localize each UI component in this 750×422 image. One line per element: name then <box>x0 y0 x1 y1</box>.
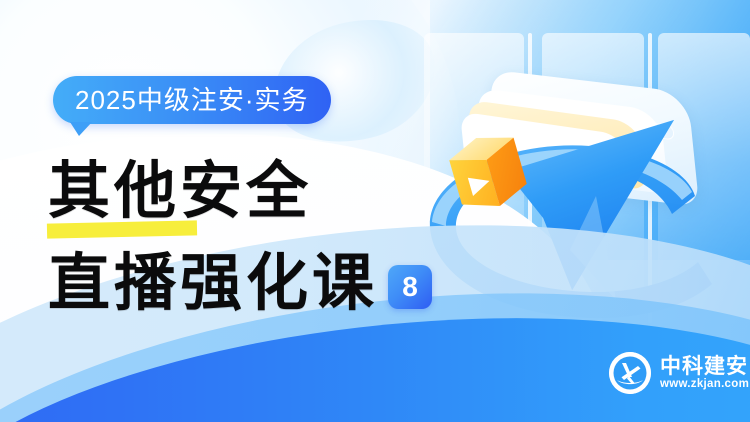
course-badge: 2025中级注安·实务 <box>53 76 331 124</box>
episode-number-label: 8 <box>402 273 418 301</box>
brand-name: 中科建安 <box>660 356 749 377</box>
course-badge-label: 2025中级注安·实务 <box>75 87 309 113</box>
poster-title-line-1: 其他安全 <box>48 160 312 222</box>
play-cube-icon <box>440 124 536 220</box>
poster-title-line-2: 直播强化课 <box>48 252 378 314</box>
episode-number-badge: 8 <box>388 265 432 309</box>
brand-logo-text: 中科建安 www.zkjan.com <box>660 356 749 391</box>
brand-url: www.zkjan.com <box>660 379 749 391</box>
course-poster: 2025中级注安·实务 其他安全 直播强化课 8 中科建安 www.zkjan.… <box>0 0 750 422</box>
zkjan-logo-icon <box>609 352 651 394</box>
course-badge-tail <box>70 122 92 136</box>
brand-logo: 中科建安 www.zkjan.com <box>609 352 749 394</box>
